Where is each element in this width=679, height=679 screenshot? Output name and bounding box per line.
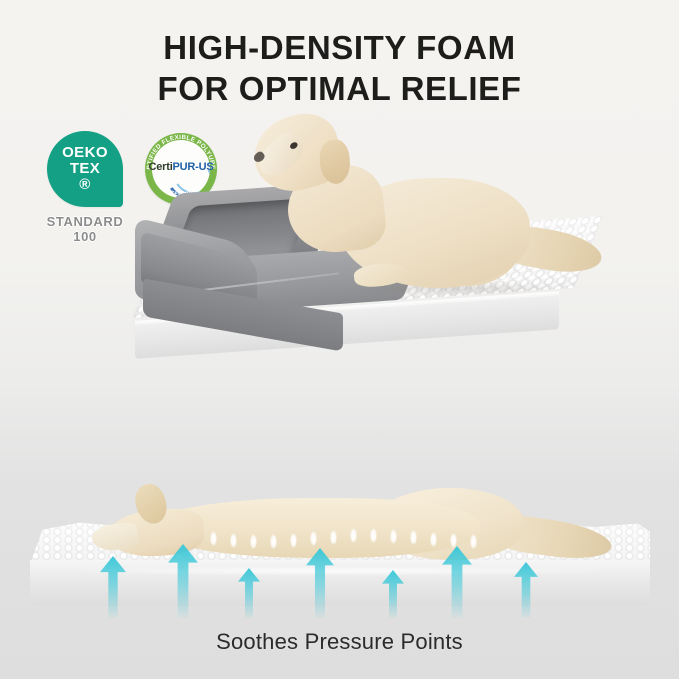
pressure-arrow-icon bbox=[382, 570, 404, 618]
pressure-points-illustration bbox=[0, 476, 679, 626]
hero-product-image bbox=[0, 96, 679, 368]
pressure-arrow-icon bbox=[442, 546, 472, 618]
pressure-arrow-icon bbox=[514, 562, 538, 618]
hardness-scale: Too Soft 1 Lack Of Support Moderate Hard… bbox=[0, 381, 679, 471]
pressure-arrow-icon bbox=[238, 568, 260, 618]
infographic-page: HIGH-DENSITY FOAM FOR OPTIMAL RELIEF OEK… bbox=[0, 0, 679, 679]
pressure-arrow-icon bbox=[168, 544, 198, 618]
pressure-arrow-icon bbox=[100, 556, 126, 618]
dog-sitting-photo bbox=[236, 104, 596, 344]
pressure-arrow-icon bbox=[306, 548, 334, 618]
certipur-name-prefix: Certi bbox=[148, 161, 172, 173]
certipur-wordmark: CertiPUR-US bbox=[145, 161, 217, 173]
upward-pressure-arrows bbox=[100, 538, 600, 618]
headline-line-1: HIGH-DENSITY FOAM bbox=[163, 29, 515, 66]
certipur-name-suffix: PUR-US bbox=[173, 161, 214, 173]
pressure-points-caption: Soothes Pressure Points bbox=[0, 629, 679, 655]
